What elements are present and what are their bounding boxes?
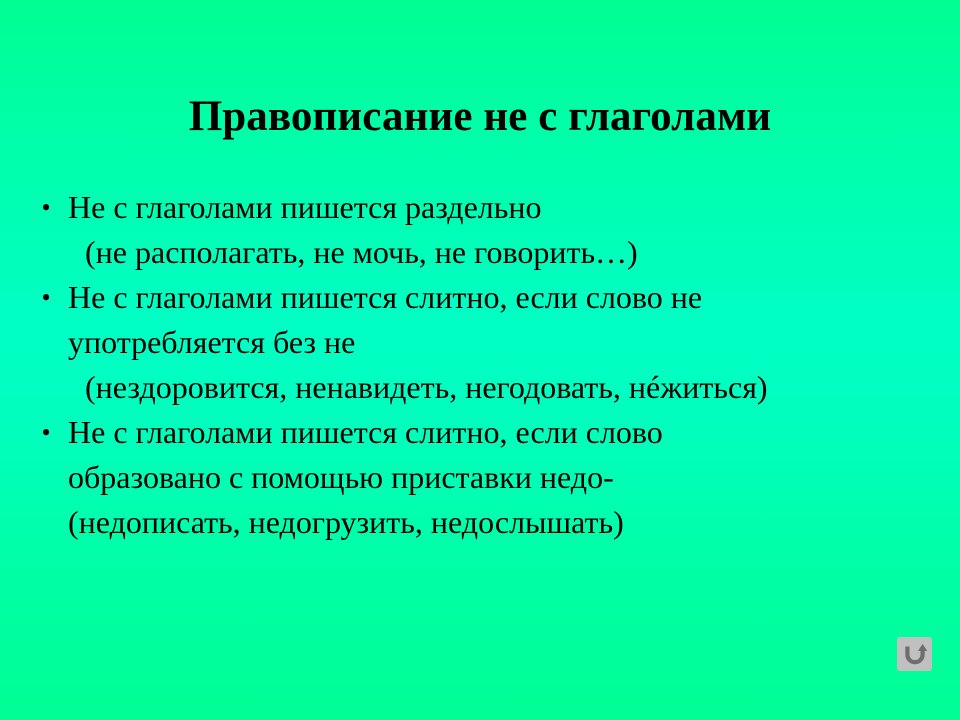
list-item: • Не с глаголами пишется слитно, если сл… <box>34 275 914 410</box>
bullet-line: Не с глаголами пишется слитно, если слов… <box>68 410 914 455</box>
title-text-part2: с глаголами <box>527 93 771 140</box>
bullet-icon: • <box>38 185 54 230</box>
bullet-list: • Не с глаголами пишется раздельно (не р… <box>34 185 914 545</box>
bullet-line: образовано с помощью приставки недо- <box>68 455 914 500</box>
page-title: Правописание не с глаголами <box>0 91 960 143</box>
u-turn-return-arrow-icon <box>903 642 927 666</box>
bullet-line: (нездоровится, ненавидеть, негодовать, н… <box>68 365 914 410</box>
slide-canvas: Правописание не с глаголами • Не с глаго… <box>0 0 960 720</box>
bullet-icon: • <box>38 275 54 320</box>
bullet-icon: • <box>38 410 54 455</box>
list-item: • Не с глаголами пишется слитно, если сл… <box>34 410 914 545</box>
list-item: • Не с глаголами пишется раздельно (не р… <box>34 185 914 275</box>
title-emphasis-ne: не <box>483 93 527 140</box>
bullet-line: (недописать, недогрузить, недослышать) <box>68 500 914 545</box>
bullet-line: (не располагать, не мочь, не говорить…) <box>68 230 914 275</box>
bullet-line: Не с глаголами пишется слитно, если слов… <box>68 275 914 320</box>
return-button[interactable] <box>897 637 932 671</box>
title-text-part1: Правописание <box>189 93 484 140</box>
bullet-line: Не с глаголами пишется раздельно <box>68 185 914 230</box>
bullet-line: употребляется без не <box>68 320 914 365</box>
